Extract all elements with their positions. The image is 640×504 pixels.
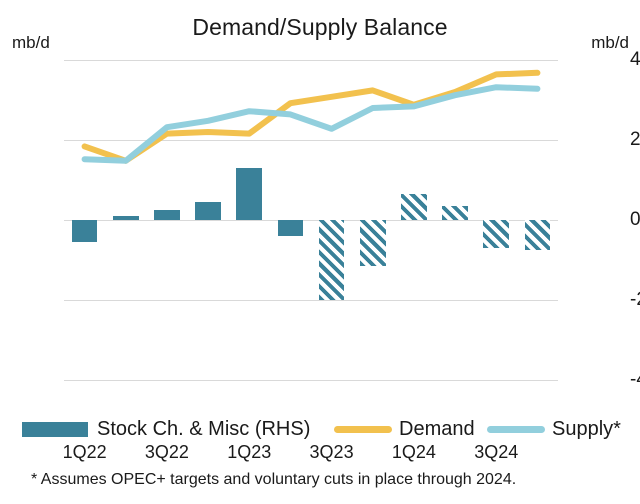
chart-container: Demand/Supply Balance mb/d mb/d 10510095… xyxy=(0,0,640,504)
left-axis-unit-label: mb/d xyxy=(12,33,50,53)
legend-label-supply: Supply* xyxy=(552,418,621,441)
right-axis-unit-label: mb/d xyxy=(591,33,629,53)
legend-item-demand[interactable]: Demand xyxy=(334,418,475,441)
y-axis-right-tick-label: -4 xyxy=(630,370,640,389)
legend-item-supply[interactable]: Supply* xyxy=(487,418,621,441)
legend-swatch-line-demand-icon xyxy=(334,426,392,433)
legend-swatch-line-supply-icon xyxy=(487,426,545,433)
chart-title: Demand/Supply Balance xyxy=(0,14,640,41)
line-series-layer xyxy=(64,60,558,380)
y-axis-right-tick-label: 0 xyxy=(630,210,640,229)
legend-label-stock-change: Stock Ch. & Misc (RHS) xyxy=(97,418,310,441)
plot-area: 105100959085 420-2-4 1Q223Q221Q233Q231Q2… xyxy=(64,60,558,380)
chart-footnote: * Assumes OPEC+ targets and voluntary cu… xyxy=(31,471,516,489)
legend-label-demand: Demand xyxy=(399,418,475,441)
y-axis-right-tick-label: 2 xyxy=(630,130,640,149)
line-demand xyxy=(85,73,538,161)
y-axis-right-tick-label: 4 xyxy=(630,50,640,69)
gridline xyxy=(64,380,558,381)
legend-item-stock-change[interactable]: Stock Ch. & Misc (RHS) xyxy=(22,418,310,441)
chart-legend: Stock Ch. & Misc (RHS) Demand Supply* xyxy=(0,418,640,452)
legend-swatch-bar-icon xyxy=(22,422,88,437)
y-axis-right-tick-label: -2 xyxy=(630,290,640,309)
